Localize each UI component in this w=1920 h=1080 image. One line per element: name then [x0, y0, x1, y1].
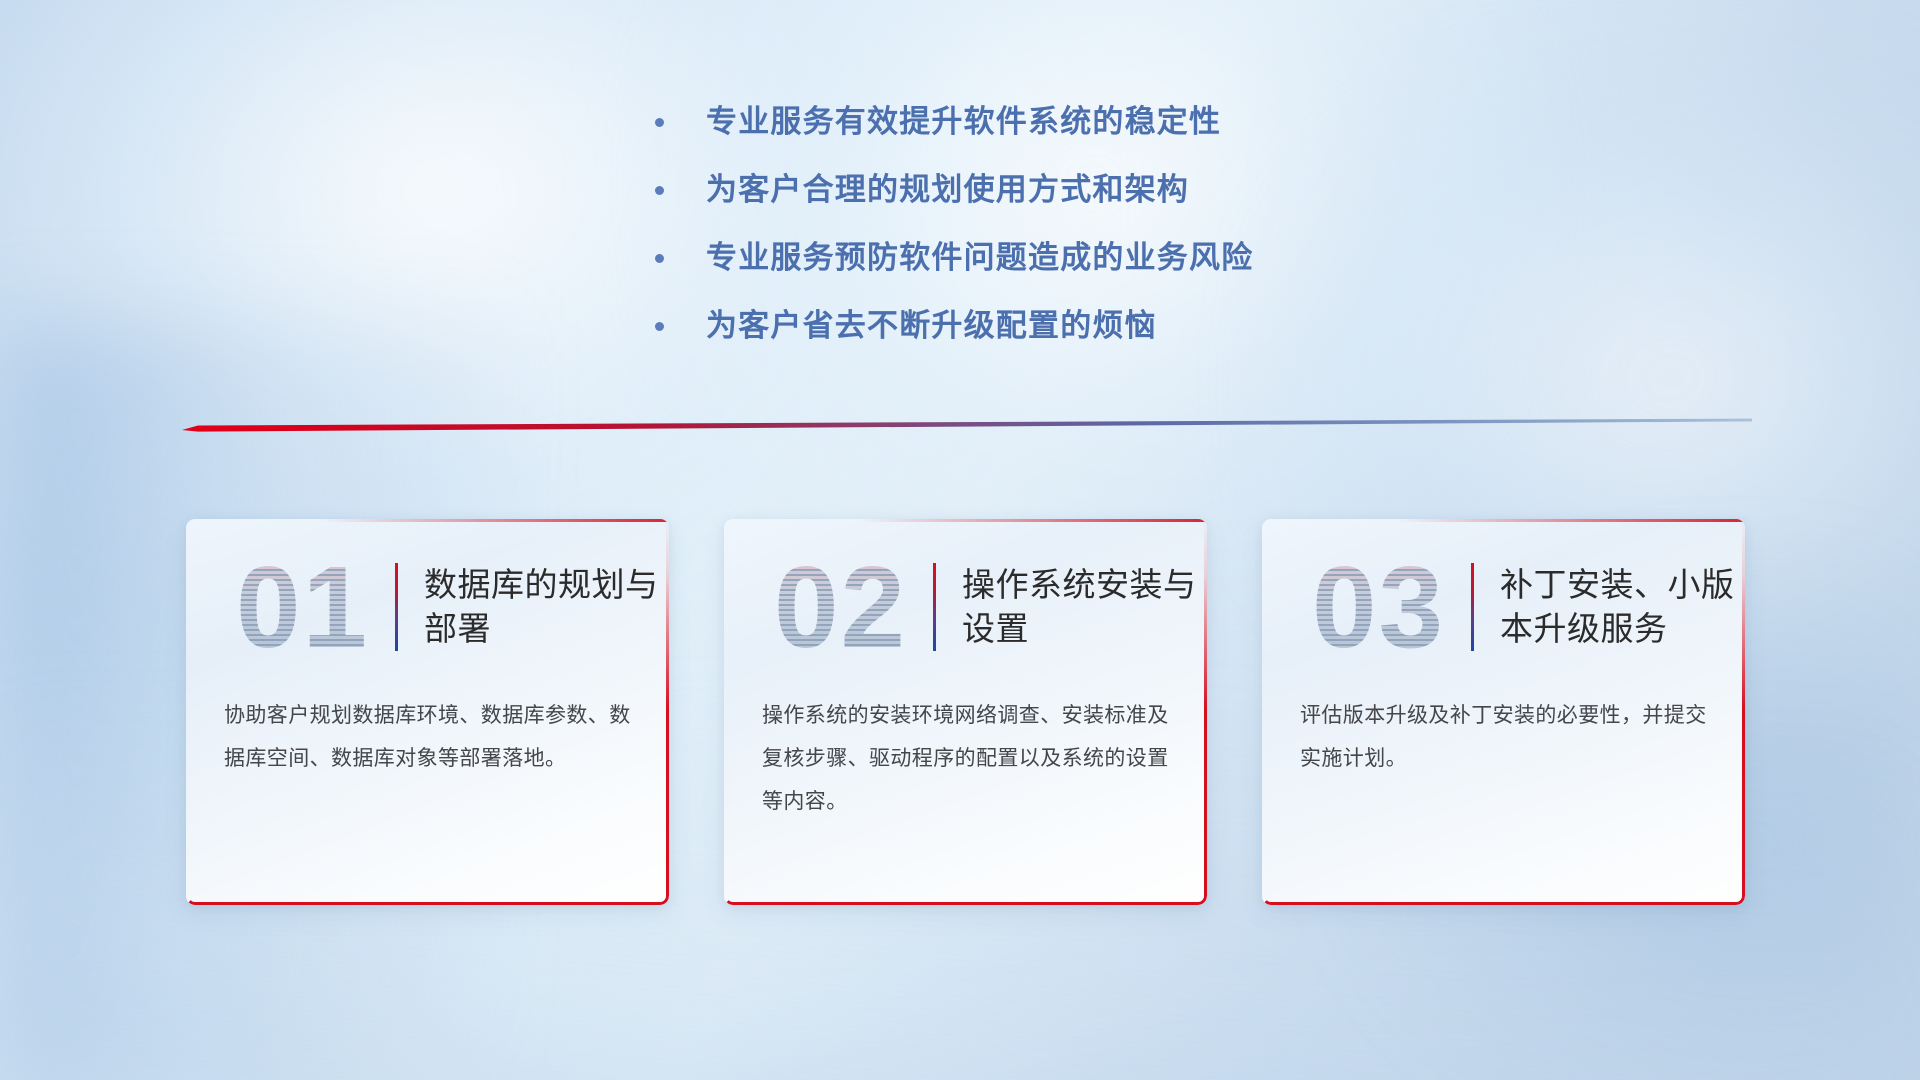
- bullet-item-label: 为客户合理的规划使用方式和架构: [706, 172, 1189, 208]
- card-number-decoration: 01: [214, 549, 391, 665]
- card-number-decoration: 02: [752, 549, 929, 665]
- bullet-list-item: 为客户省去不断升级配置的烦恼: [655, 308, 1455, 344]
- bullet-item-label: 专业服务有效提升软件系统的稳定性: [706, 104, 1221, 140]
- section-divider-shape: [182, 418, 1752, 440]
- bullet-dot-icon: [655, 118, 664, 127]
- section-divider: [182, 418, 1752, 440]
- bullet-list-item: 专业服务有效提升软件系统的稳定性: [655, 104, 1455, 140]
- card-header: 01 数据库的规划与部署: [186, 519, 669, 694]
- card-header: 03 补丁安装、小版本升级服务: [1262, 519, 1745, 694]
- card-title-divider: [395, 563, 398, 651]
- card-title: 数据库的规划与部署: [424, 563, 669, 651]
- service-card[interactable]: 01 数据库的规划与部署 协助客户规划数据库环境、数据库参数、数据库空间、数据库…: [186, 519, 669, 905]
- bullet-item-label: 专业服务预防软件问题造成的业务风险: [706, 240, 1253, 276]
- service-cards-row: 01 数据库的规划与部署 协助客户规划数据库环境、数据库参数、数据库空间、数据库…: [186, 519, 1746, 905]
- bullet-dot-icon: [655, 322, 664, 331]
- benefits-bullet-list: 专业服务有效提升软件系统的稳定性 为客户合理的规划使用方式和架构 专业服务预防软…: [655, 104, 1455, 376]
- card-title-divider: [933, 563, 936, 651]
- card-title: 补丁安装、小版本升级服务: [1500, 563, 1745, 651]
- bullet-list-item: 专业服务预防软件问题造成的业务风险: [655, 240, 1455, 276]
- service-card[interactable]: 03 补丁安装、小版本升级服务 评估版本升级及补丁安装的必要性，并提交实施计划。: [1262, 519, 1745, 905]
- bullet-dot-icon: [655, 254, 664, 263]
- card-title: 操作系统安装与设置: [962, 563, 1207, 651]
- bullet-item-label: 为客户省去不断升级配置的烦恼: [706, 308, 1157, 344]
- service-card[interactable]: 02 操作系统安装与设置 操作系统的安装环境网络调查、安装标准及复核步骤、驱动程…: [724, 519, 1207, 905]
- bullet-dot-icon: [655, 186, 664, 195]
- card-description: 操作系统的安装环境网络调查、安装标准及复核步骤、驱动程序的配置以及系统的设置等内…: [724, 694, 1207, 823]
- card-description: 评估版本升级及补丁安装的必要性，并提交实施计划。: [1262, 694, 1745, 780]
- bullet-list-item: 为客户合理的规划使用方式和架构: [655, 172, 1455, 208]
- card-description: 协助客户规划数据库环境、数据库参数、数据库空间、数据库对象等部署落地。: [186, 694, 669, 780]
- card-title-divider: [1471, 563, 1474, 651]
- card-header: 02 操作系统安装与设置: [724, 519, 1207, 694]
- card-number-decoration: 03: [1290, 549, 1467, 665]
